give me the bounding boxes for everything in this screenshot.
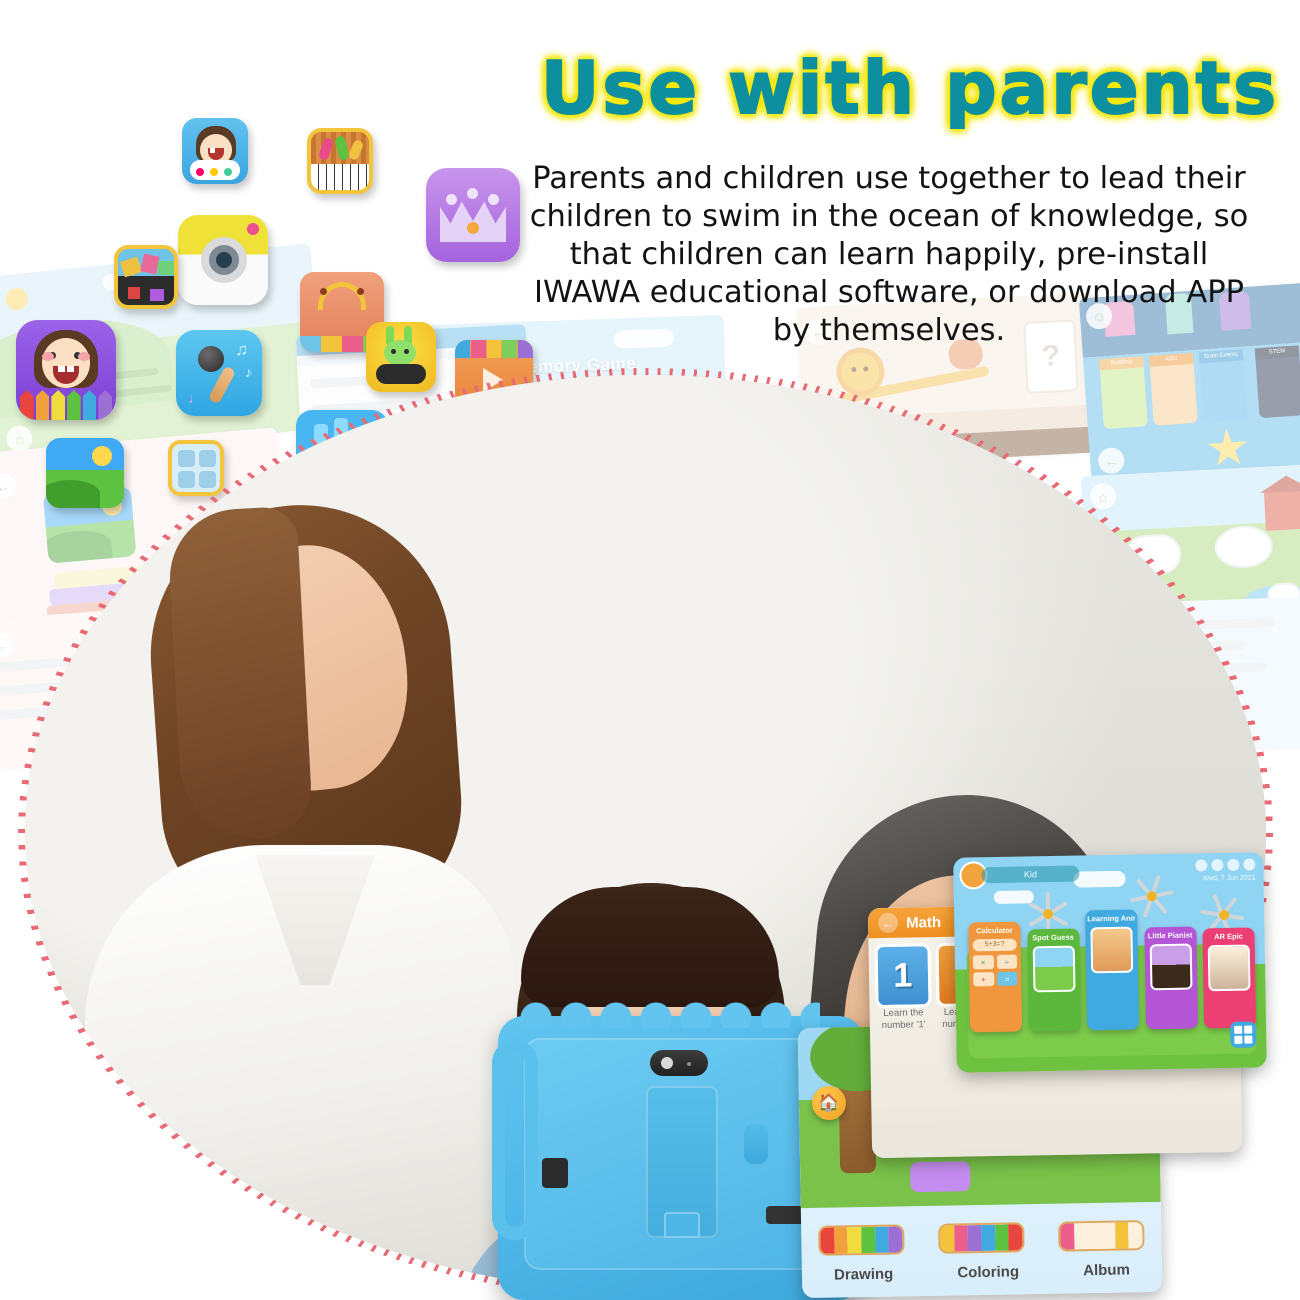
tablet-kickstand[interactable] [646, 1086, 718, 1238]
profile-name-bar: Kid [981, 866, 1079, 884]
profile-name: Kid [1024, 869, 1037, 879]
puzzle-icon[interactable] [114, 245, 178, 309]
all-apps-grid-icon[interactable] [1230, 1021, 1256, 1047]
home-app-little-pianist[interactable]: Little Pianist [1144, 926, 1198, 1029]
home-app-calculator[interactable]: Calculator 5+3=? × ÷ + = [968, 922, 1022, 1033]
app-thumbnail [1149, 944, 1192, 991]
home-app-learning-animals[interactable]: Learning Anima. [1085, 910, 1139, 1031]
label-drawing: Drawing [834, 1265, 893, 1283]
tablet-handle[interactable] [492, 1040, 538, 1240]
app-label: Little Pianist [1148, 931, 1193, 941]
app-label: Learning Anima. [1087, 914, 1135, 924]
stem-label: STEM [1255, 345, 1300, 359]
home-app-spot-guess[interactable]: Spot Guess [1027, 929, 1081, 1032]
crown-icon[interactable] [426, 168, 520, 262]
drawing-tool-chips [801, 1218, 1162, 1258]
status-date: Wed, 7 Jun 2021 [1203, 874, 1256, 882]
number-caption: Learn the number '1' [876, 1007, 932, 1032]
mother-hair-front [166, 506, 313, 842]
app-label: Calculator [976, 926, 1013, 936]
volume-icon [1211, 859, 1223, 871]
album-chip[interactable] [1058, 1220, 1145, 1251]
calc-key[interactable]: ÷ [996, 955, 1017, 969]
back-icon[interactable]: ← [878, 913, 898, 933]
app-label: AR Epic [1214, 932, 1243, 942]
camera-icon[interactable] [178, 215, 268, 305]
wifi-icon [1227, 859, 1239, 871]
app-thumbnail [1208, 945, 1251, 992]
calc-key[interactable]: + [973, 972, 994, 986]
calc-key[interactable]: × [973, 955, 994, 969]
product-marketing-banner: ⌂ ← ⌂ ▲ Memory Game ← ? [0, 0, 1300, 1300]
page-description: Parents and children use together to lea… [528, 160, 1250, 350]
drawing-chip[interactable] [818, 1224, 905, 1255]
drawing-kid-icon[interactable] [182, 118, 248, 184]
abc-label: ABC [1149, 353, 1194, 367]
card-home-screen[interactable]: Kid Wed, 7 Jun 2021 Calculator [953, 852, 1267, 1072]
calc-key[interactable]: = [997, 972, 1018, 986]
app-thumbnail [1090, 927, 1133, 974]
number-tile[interactable]: 1 [874, 943, 931, 1008]
app-thumbnail [1032, 946, 1075, 993]
tablet-usb-port [542, 1158, 568, 1188]
settings-icon[interactable] [1243, 858, 1255, 870]
case-bumper [520, 1002, 820, 1028]
page-title: Use with parents [530, 46, 1290, 130]
piano-icon[interactable] [307, 128, 373, 194]
app-label: Spot Guess [1032, 933, 1074, 943]
child-fringe [521, 887, 779, 1007]
coloring-chip[interactable] [938, 1222, 1025, 1253]
calculator-display: 5+3=? [973, 939, 1017, 952]
status-bar [1195, 858, 1255, 871]
battery-icon [1195, 859, 1207, 871]
label-album: Album [1083, 1261, 1130, 1279]
tablet-knob [744, 1124, 768, 1164]
home-app-ar-epic[interactable]: AR Epic [1202, 927, 1256, 1028]
tablet-camera [650, 1050, 708, 1076]
home-app-row: Calculator 5+3=? × ÷ + = Spot Guess Lear… [968, 909, 1256, 1032]
math-title: Math [906, 913, 941, 931]
brain-events-label: Brain Events [1199, 349, 1244, 363]
home-icon[interactable]: 🏠 [812, 1086, 846, 1120]
label-coloring: Coloring [957, 1263, 1019, 1281]
